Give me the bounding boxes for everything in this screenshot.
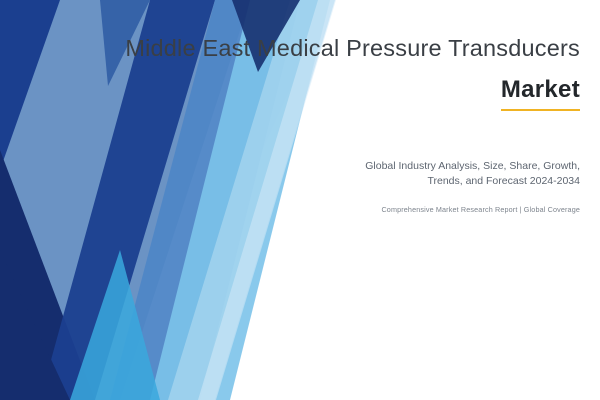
report-meta-line: Comprehensive Market Research Report | G… [60, 205, 580, 214]
report-subtitle: Global Industry Analysis, Size, Share, G… [60, 159, 580, 189]
accent-underline [501, 109, 580, 111]
report-subtitle-line-1: Global Industry Analysis, Size, Share, G… [60, 159, 580, 174]
cover-text-block: Middle East Medical Pressure Transducers… [60, 34, 580, 214]
market-label: Market [501, 77, 580, 108]
page-title: Middle East Medical Pressure Transducers [60, 34, 580, 62]
market-label-group: Market [501, 77, 580, 110]
report-cover: Middle East Medical Pressure Transducers… [0, 0, 600, 400]
report-subtitle-line-2: Trends, and Forecast 2024-2034 [60, 174, 580, 189]
